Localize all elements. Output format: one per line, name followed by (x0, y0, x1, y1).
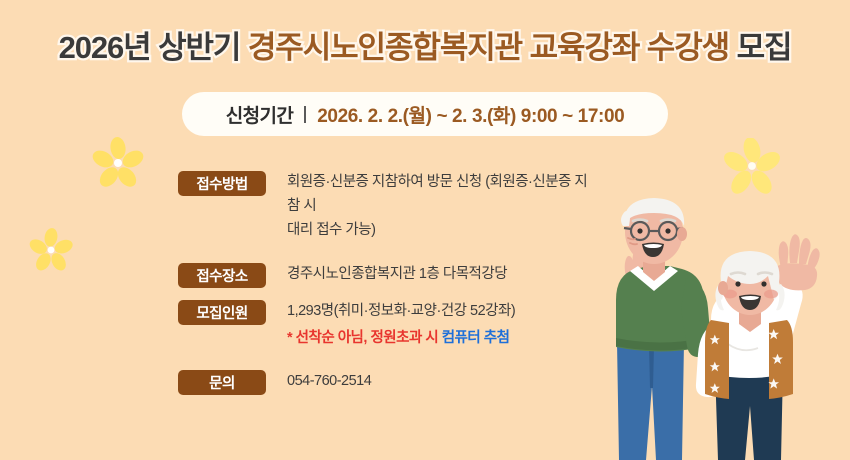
banner-divider (304, 106, 306, 123)
application-period-value: 2026. 2. 2.(월) ~ 2. 3.(화) 9:00 ~ 17:00 (317, 101, 624, 128)
info-value-line-2: 대리 접수 가능) (287, 218, 598, 242)
info-label-contact: 문의 (178, 370, 266, 395)
poster-title: 2026년 상반기 경주시노인종합복지관 교육강좌 수강생 모집 (0, 26, 850, 70)
info-value-capacity-text: 1,293명(취미·정보화·교양·건강 52강좌) (287, 299, 515, 323)
elderly-couple-illustration (578, 196, 850, 460)
info-value-line-1: 회원증·신분증 지참하여 방문 신청 (회원증·신분증 지참 시 (287, 170, 598, 218)
info-label-application-method: 접수방법 (178, 171, 266, 196)
title-part-recruit: 모집 (737, 30, 792, 65)
application-period-label: 신청기간 (226, 101, 294, 128)
title-part-year-term: 2026년 상반기 (59, 30, 241, 65)
capacity-note-red: * 선착순 아님, 정원초과 시 (287, 330, 438, 346)
poster-canvas: 2026년 상반기 경주시노인종합복지관 교육강좌 수강생 모집 신청기간 20… (0, 0, 850, 460)
info-value-application-method: 회원증·신분증 지참하여 방문 신청 (회원증·신분증 지참 시 대리 접수 가… (287, 170, 598, 242)
title-part-program: 경주시노인종합복지관 교육강좌 수강생 (248, 30, 729, 65)
capacity-note: * 선착순 아님, 정원초과 시 컴퓨터 추첨 (287, 327, 515, 349)
info-label-capacity: 모집인원 (178, 300, 266, 325)
info-row-application-method: 접수방법 회원증·신분증 지참하여 방문 신청 (회원증·신분증 지참 시 대리… (178, 170, 598, 242)
flower-icon-top-right (724, 138, 780, 199)
info-label-location: 접수장소 (178, 263, 266, 288)
woman-hand (776, 234, 820, 290)
flower-icon-top-left (92, 137, 144, 194)
info-table: 접수방법 회원증·신분증 지참하여 방문 신청 (회원증·신분증 지참 시 대리… (178, 170, 598, 410)
info-value-capacity: 1,293명(취미·정보화·교양·건강 52강좌) * 선착순 아님, 정원초과… (287, 299, 515, 349)
info-value-location: 경주시노인종합복지관 1층 다목적강당 (287, 262, 507, 286)
capacity-note-blue: 컴퓨터 추첨 (442, 330, 510, 346)
info-value-contact: 054-760-2514 (287, 369, 371, 393)
info-row-contact: 문의 054-760-2514 (178, 369, 598, 395)
info-row-location: 접수장소 경주시노인종합복지관 1층 다목적강당 (178, 262, 598, 288)
application-period-banner: 신청기간 2026. 2. 2.(월) ~ 2. 3.(화) 9:00 ~ 17… (182, 92, 668, 136)
flower-icon-bottom-left (29, 228, 73, 277)
info-row-capacity: 모집인원 1,293명(취미·정보화·교양·건강 52강좌) * 선착순 아님,… (178, 299, 598, 349)
